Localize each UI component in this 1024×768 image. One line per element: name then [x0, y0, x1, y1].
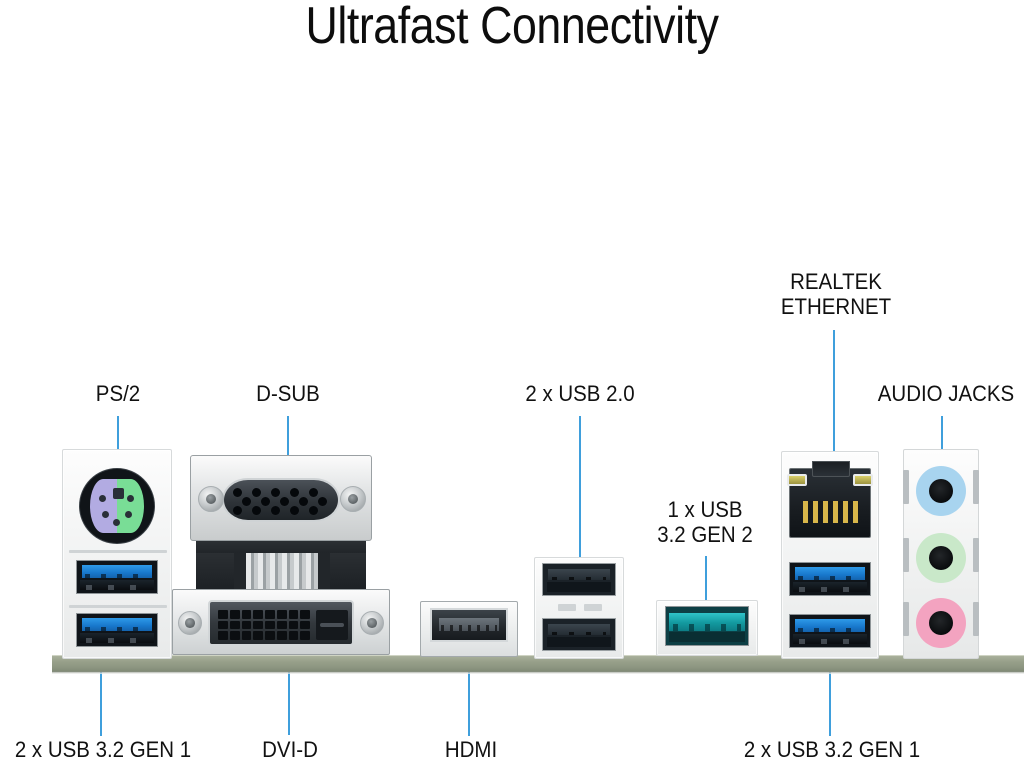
rj45-latch-notch [812, 461, 850, 477]
label-usb-32-gen2-line2: 3.2 GEN 2 [635, 522, 775, 547]
port-ps2[interactable] [80, 469, 154, 543]
port-audio-line-out[interactable] [916, 533, 966, 583]
port-audio-mic-in[interactable] [916, 598, 966, 648]
vga-pin [299, 497, 308, 506]
ps2-key-slot [113, 488, 124, 499]
audio-stack-tab [973, 470, 979, 504]
ethernet-led-right [853, 474, 873, 486]
usb-cavity [80, 580, 154, 591]
rj45-contacts [803, 501, 859, 523]
vga-pin [242, 497, 251, 506]
vga-pin [290, 506, 299, 515]
usb20-divider-vent-left [558, 604, 576, 611]
port-dsub[interactable] [222, 478, 340, 522]
port-usb3-right-top[interactable] [789, 562, 871, 596]
housing-vent [69, 605, 167, 608]
vga-pin [271, 488, 280, 497]
hdmi-tongue [439, 618, 499, 631]
vga-pin [271, 506, 280, 515]
label-audio-jacks: AUDIO JACKS [872, 381, 1021, 406]
port-audio-line-in[interactable] [916, 466, 966, 516]
ps2-pin [102, 511, 109, 518]
page-title: Ultrafast Connectivity [72, 0, 953, 56]
ethernet-led-left [787, 474, 807, 486]
label-ethernet: ETHERNET [762, 294, 911, 319]
io-shield-base-shadow [52, 671, 1024, 674]
dvi-blade-slot [316, 610, 348, 640]
dvi-pin-grid [218, 610, 310, 640]
usb-tongue [669, 613, 744, 630]
vga-pin [309, 506, 318, 515]
vga-pin [280, 497, 289, 506]
io-panel-diagram: Ultrafast Connectivity PS/2 D-SUB 2 x US… [0, 0, 1024, 768]
audio-stack-tab [903, 602, 909, 636]
housing-vent [69, 550, 167, 553]
port-hdmi[interactable] [430, 608, 508, 642]
dsub-screw-post-right [340, 486, 366, 512]
dvid-screw-post-left [178, 611, 202, 635]
label-usb-32-gen1-right: 2 x USB 3.2 GEN 1 [734, 737, 929, 762]
usb-cavity [793, 582, 867, 593]
usb-tongue [548, 569, 610, 580]
connector-riser-side-left [196, 553, 234, 589]
vga-pin [252, 488, 261, 497]
audio-jack-hole [929, 611, 953, 635]
port-usb2-bottom[interactable] [542, 618, 616, 651]
usb-cavity [669, 632, 744, 642]
connector-riser-fins [232, 553, 332, 589]
usb-tongue [82, 565, 152, 577]
label-usb-32-gen2-line1: 1 x USB [635, 497, 775, 522]
port-usb3-left-bottom[interactable] [76, 613, 158, 647]
ps2-pin [127, 495, 134, 502]
label-realtek: REALTEK [762, 269, 911, 294]
audio-jack-hole [929, 479, 953, 503]
usb-cavity [793, 634, 867, 645]
label-ps2: PS/2 [62, 381, 174, 406]
usb-cavity [547, 582, 612, 592]
connector-riser-side-right [330, 553, 366, 589]
usb-tongue [795, 619, 865, 631]
vga-pin [318, 497, 327, 506]
port-usb32-gen2[interactable] [665, 606, 749, 646]
port-usb3-left-top[interactable] [76, 560, 158, 594]
usb-cavity [547, 637, 612, 647]
label-dvi-d: DVI-D [231, 737, 348, 762]
label-usb-2-0: 2 x USB 2.0 [506, 381, 655, 406]
vga-pin [233, 506, 242, 515]
ps2-pin [125, 511, 132, 518]
leader-line-usb20 [579, 416, 581, 576]
usb-cavity [80, 633, 154, 644]
port-usb3-right-bottom[interactable] [789, 614, 871, 648]
audio-stack-tab [973, 602, 979, 636]
port-usb2-top[interactable] [542, 563, 616, 596]
audio-stack-tab [903, 538, 909, 572]
vga-pin [252, 506, 261, 515]
audio-stack-tab [973, 538, 979, 572]
ps2-pin [99, 495, 106, 502]
dsub-screw-post-left [198, 486, 224, 512]
vga-pin [261, 497, 270, 506]
vga-pin [233, 488, 242, 497]
vga-pin [309, 488, 318, 497]
vga-pin [290, 488, 299, 497]
label-usb-32-gen1-left: 2 x USB 3.2 GEN 1 [5, 737, 200, 762]
audio-stack-tab [903, 470, 909, 504]
usb-tongue [82, 618, 152, 630]
usb20-divider-vent-right [584, 604, 602, 611]
label-hdmi: HDMI [412, 737, 529, 762]
port-dvid[interactable] [208, 600, 354, 646]
audio-jack-hole [929, 546, 953, 570]
dvid-screw-post-right [360, 611, 384, 635]
usb-tongue [548, 624, 610, 635]
ps2-pin [113, 519, 120, 526]
usb-tongue [795, 567, 865, 579]
label-dsub: D-SUB [232, 381, 344, 406]
